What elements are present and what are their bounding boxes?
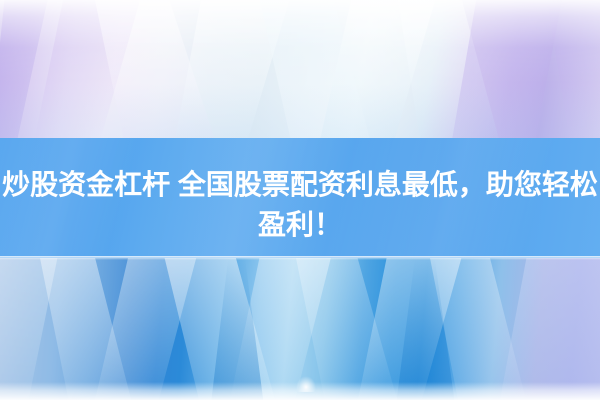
band-bottom-seam (0, 256, 600, 260)
banner-headline: 炒股资金杠杆 全国股票配资利息最低，助您轻松盈利！ (0, 138, 600, 258)
background-top-highlight (0, 0, 600, 140)
bottom-white-fade (0, 382, 600, 400)
promo-banner: 炒股资金杠杆 全国股票配资利息最低，助您轻松盈利！ (0, 0, 600, 400)
